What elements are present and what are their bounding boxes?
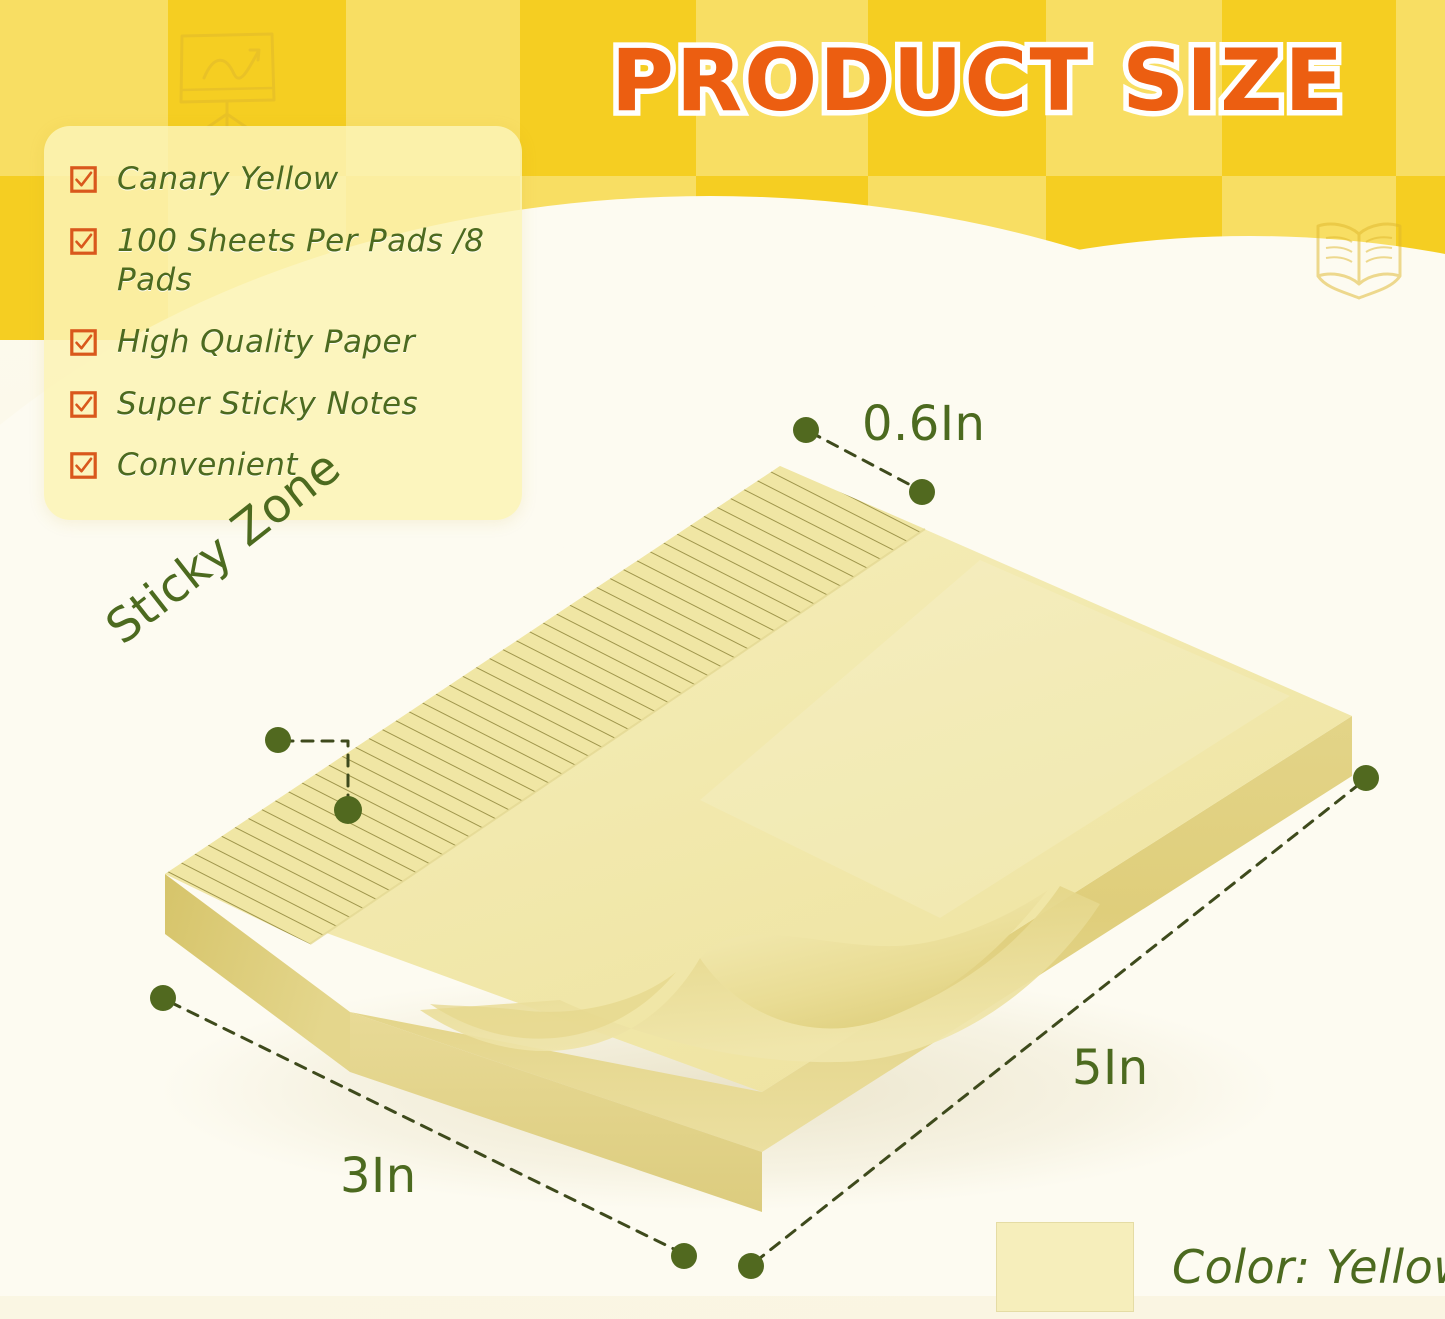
easel-chart-icon (168, 26, 286, 134)
dimension-label-thickness: 0.6In (862, 396, 985, 452)
list-item: High Quality Paper (70, 323, 496, 363)
dimension-label-width: 3In (340, 1148, 417, 1204)
checkbox-checked-icon (70, 166, 97, 193)
list-item-label: High Quality Paper (117, 323, 415, 363)
color-legend-label: Color: Yellow (1172, 1240, 1445, 1294)
list-item-label: Canary Yellow (117, 160, 339, 200)
open-book-icon (1306, 214, 1412, 310)
checkbox-checked-icon (70, 452, 97, 479)
list-item: 100 Sheets Per Pads /8 Pads (70, 222, 496, 301)
checkbox-checked-icon (70, 228, 97, 255)
page-title: PRODUCT SIZE (548, 36, 1408, 126)
list-item-label: 100 Sheets Per Pads /8 Pads (117, 222, 496, 301)
feature-list-card: Canary Yellow 100 Sheets Per Pads /8 Pad… (44, 126, 522, 520)
color-legend: Color: Yellow (996, 1222, 1445, 1312)
checkbox-checked-icon (70, 391, 97, 418)
dimension-label-length: 5In (1072, 1040, 1149, 1096)
feature-list: Canary Yellow 100 Sheets Per Pads /8 Pad… (70, 160, 496, 486)
infographic-canvas: PRODUCT SIZE Canary Yellow (0, 0, 1445, 1319)
list-item: Super Sticky Notes (70, 385, 496, 425)
color-swatch (996, 1222, 1134, 1312)
list-item: Canary Yellow (70, 160, 496, 200)
checkbox-checked-icon (70, 329, 97, 356)
list-item-label: Super Sticky Notes (117, 385, 418, 425)
